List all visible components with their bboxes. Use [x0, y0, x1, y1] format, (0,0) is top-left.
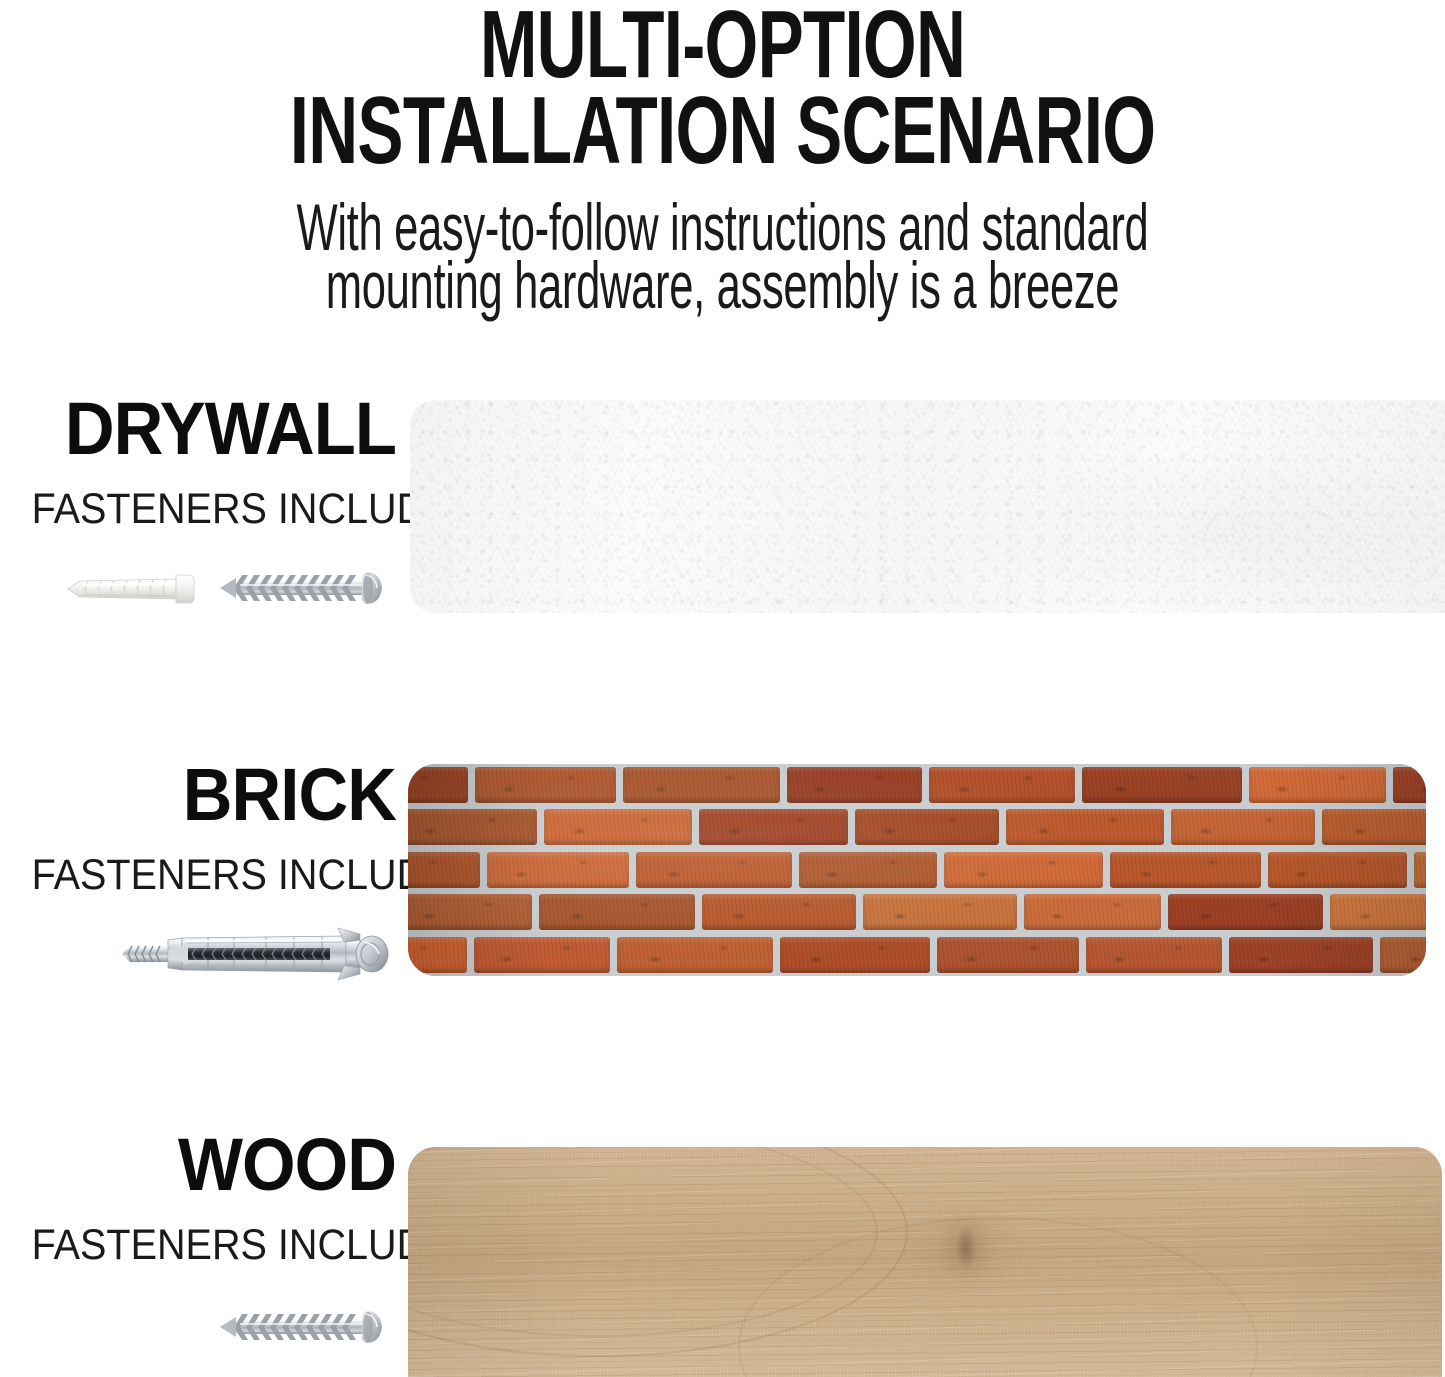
brick-fastener-tray [116, 924, 394, 984]
brick [937, 937, 1079, 973]
hollow-wall-molly-anchor-icon [116, 922, 394, 986]
fasteners-included-label-wood: FASTENERS INCLUDED [32, 1224, 396, 1267]
brick [1086, 937, 1222, 973]
brick [1322, 809, 1426, 845]
brick [1110, 852, 1261, 888]
brick [1168, 894, 1323, 930]
brick [636, 852, 792, 888]
material-row-drywall: DRYWALL FASTENERS INCLUDED [0, 392, 1445, 628]
drywall-info-column: DRYWALL FASTENERS INCLUDED [0, 392, 396, 628]
material-label-wood: WOOD [28, 1128, 396, 1202]
brick [1268, 852, 1407, 888]
brick [475, 767, 616, 803]
wood-screw-icon [216, 566, 394, 610]
brick [699, 809, 848, 845]
drywall-texture-swatch [410, 400, 1445, 613]
brick [487, 852, 629, 888]
brick [944, 852, 1103, 888]
wood-grain-texture [408, 1147, 1442, 1377]
brick-row [408, 806, 1426, 848]
material-row-wood: WOOD FASTENERS INCLUDED [0, 1128, 1445, 1367]
brick [1082, 767, 1242, 803]
drywall-fastener-tray [64, 558, 394, 618]
plastic-wall-anchor-icon [64, 568, 202, 608]
brick [1024, 894, 1161, 930]
wood-texture-swatch [408, 1147, 1442, 1377]
brick [539, 894, 695, 930]
brick [544, 809, 692, 845]
page-subtitle-line-2: mounting hardware, assembly is a breeze [246, 256, 1200, 314]
brick-row [408, 891, 1426, 933]
material-row-brick: BRICK FASTENERS INCLUDED [0, 758, 1445, 994]
brick-row [408, 934, 1426, 976]
fasteners-included-label-drywall: FASTENERS INCLUDED [32, 488, 396, 531]
brick [780, 937, 930, 973]
brick [1006, 809, 1164, 845]
brick [408, 767, 468, 803]
brick [408, 937, 467, 973]
brick-texture-swatch [408, 764, 1426, 976]
brick [1229, 937, 1373, 973]
brick [408, 852, 480, 888]
brick [1393, 767, 1426, 803]
brick [855, 809, 999, 845]
brick [863, 894, 1017, 930]
fasteners-included-label-brick: FASTENERS INCLUDED [32, 854, 396, 897]
brick [617, 937, 773, 973]
page-title-line-1: MULTI-OPTION [202, 4, 1242, 86]
material-label-brick: BRICK [28, 758, 396, 832]
brick [1249, 767, 1386, 803]
brick [1414, 852, 1426, 888]
brick [623, 767, 780, 803]
wood-fastener-tray [216, 1297, 394, 1357]
brick [1330, 894, 1426, 930]
brick [787, 767, 922, 803]
brick-row [408, 849, 1426, 891]
brick [1171, 809, 1315, 845]
material-label-drywall: DRYWALL [28, 392, 396, 466]
brick-pattern [408, 764, 1426, 976]
brick [702, 894, 856, 930]
brick [408, 894, 532, 930]
wood-info-column: WOOD FASTENERS INCLUDED [0, 1128, 396, 1367]
header-block: MULTI-OPTION INSTALLATION SCENARIO With … [0, 0, 1445, 314]
page-title-line-2: INSTALLATION SCENARIO [202, 90, 1242, 172]
brick-info-column: BRICK FASTENERS INCLUDED [0, 758, 396, 994]
brick [799, 852, 937, 888]
brick [408, 809, 537, 845]
brick [474, 937, 610, 973]
brick-row [408, 764, 1426, 806]
brick [1380, 937, 1426, 973]
wood-screw-icon [216, 1305, 394, 1349]
brick [929, 767, 1075, 803]
stucco-texture [410, 400, 1445, 613]
